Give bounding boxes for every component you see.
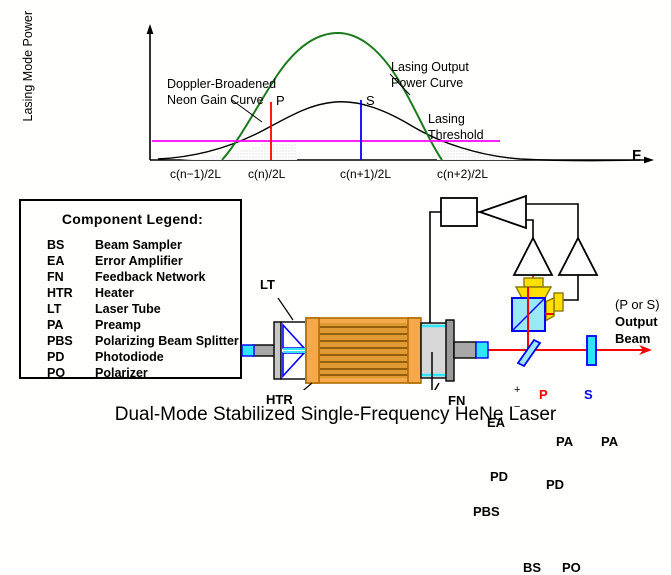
chart-svg [0,0,671,190]
x-tick-label-3: c(n+2)/2L [437,168,488,180]
threshold-annotation-line2: Threshold [428,129,484,142]
gain-curve [158,102,640,161]
preamp-s-symbol [559,238,597,275]
laser-schematic: FN EA + − P S PA PA PD PD PBS BS PO LT H… [240,190,671,390]
gain-curve-annotation-line1: Doppler-Broadened [167,78,276,91]
preamp-s-label: PA [601,435,618,448]
gain-curve-annotation-line2: Neon Gain Curve [167,94,264,107]
chart-y-axis-label: Lasing Mode Power [22,0,35,141]
legend-name: Error Amplifier [95,254,183,268]
legend-name: Polarizer [95,366,148,380]
mode-power-chart: Lasing Mode Power Doppler-Broadened Neon… [0,0,671,190]
legend-name: Feedback Network [95,270,205,284]
legend-abbr: PO [47,366,95,380]
legend-abbr: FN [47,270,95,284]
output-curve-annotation-line1: Lasing Output [391,61,469,74]
legend-abbr: PBS [47,334,95,348]
legend-abbr: HTR [47,286,95,300]
laser-tube-assembly [242,318,488,383]
preamp-p-label: PA [556,435,573,448]
htr-leader-line [298,383,312,390]
x-tick-label-2: c(n+1)/2L [340,168,391,180]
feedback-network-box [441,198,477,226]
legend-abbr: LT [47,302,95,316]
schematic-svg [240,190,671,390]
chart-x-axis-label: F [632,148,641,163]
threshold-annotation-line1: Lasing [428,113,465,126]
error-amplifier-symbol [480,196,526,228]
output-beam-label-line2: Output [615,315,658,328]
bs-label: BS [523,561,541,574]
legend-name: Photodiode [95,350,164,364]
x-tick-label-1: c(n)/2L [248,168,285,180]
legend-name: Heater [95,286,134,300]
mode-p-label: P [539,388,548,401]
lt-label: LT [260,278,275,291]
po-label: PO [562,561,581,574]
diagram-canvas: Lasing Mode Power Doppler-Broadened Neon… [0,0,671,457]
pbs-label: PBS [473,505,500,518]
photodiode-top-label: PD [490,470,508,483]
polarizer [587,336,596,365]
mode-s-label: S [584,388,593,401]
legend-abbr: BS [47,238,95,252]
legend-abbr: EA [47,254,95,268]
lt-leader-line [278,298,293,320]
ea-plus-terminal-label: + [514,385,520,396]
photodiode-right-label: PD [546,478,564,491]
legend-title: Component Legend: [21,212,244,226]
x-tick-label-0: c(n−1)/2L [170,168,221,180]
output-beam-label-line3: Beam [615,332,650,345]
legend-name: Preamp [95,318,141,332]
p-mode-label: P [276,94,285,107]
page-title: Dual-Mode Stabilized Single-Frequency He… [0,405,671,424]
component-legend: Component Legend: BS Beam Sampler EA Err… [19,199,242,379]
legend-name: Beam Sampler [95,238,182,252]
legend-abbr: PA [47,318,95,332]
photodiode-top [516,278,551,298]
s-mode-label: S [366,94,375,107]
output-beam-label-line1: (P or S) [615,298,660,311]
legend-name: Polarizing Beam Splitter [95,334,239,348]
legend-abbr: PD [47,350,95,364]
preamp-p-symbol [514,238,552,275]
output-curve-annotation-line2: Power Curve [391,77,463,90]
legend-name: Laser Tube [95,302,161,316]
